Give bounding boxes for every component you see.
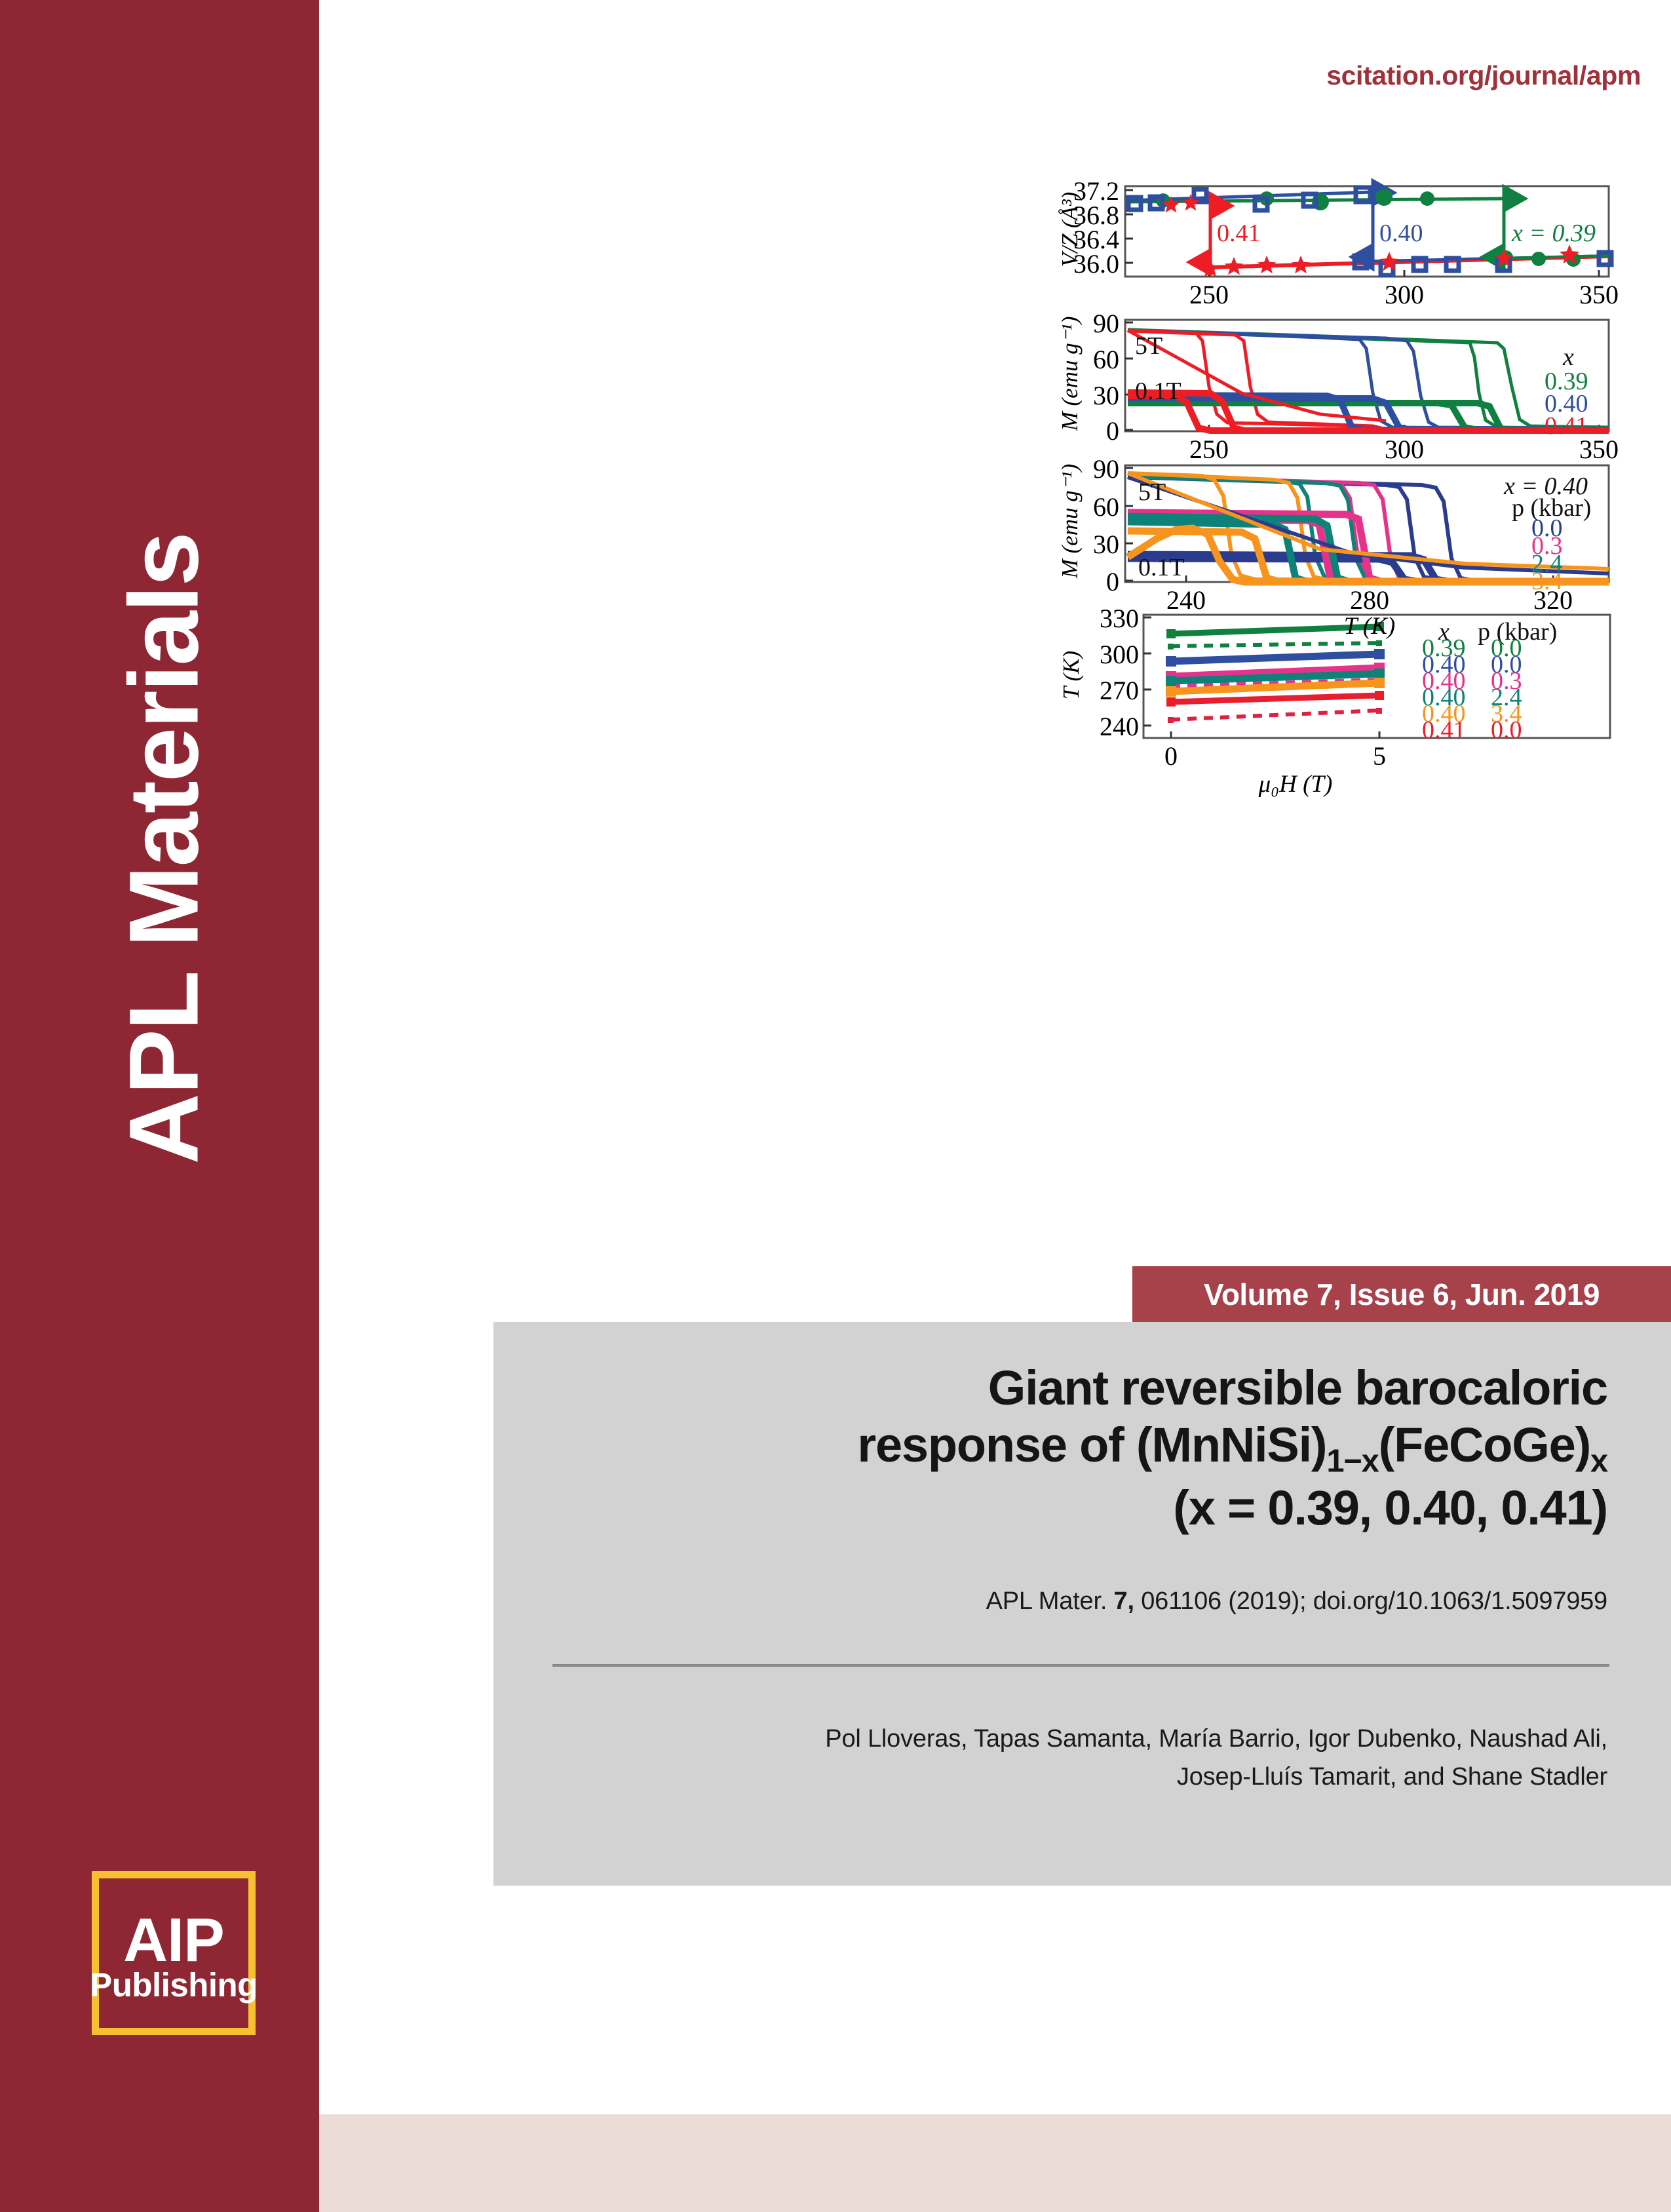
panel-a-annotation-039: x = 0.39 (1512, 219, 1596, 248)
aip-logo-acronym: AIP (123, 1914, 224, 1967)
panel-d-xtick-1: 5 (1343, 741, 1415, 771)
panel-c-ytick-2: 60 (1042, 492, 1119, 522)
citation-journal: APL Mater. (986, 1587, 1114, 1615)
panel-c-ytick-3: 90 (1042, 454, 1119, 484)
journal-name-label: APL Materials (107, 103, 221, 1165)
panel-c-xtick-1: 280 (1334, 585, 1406, 615)
article-title-line2-part1: response of (MnNiSi) (857, 1418, 1326, 1472)
panel-d-ytick-1: 270 (1055, 675, 1139, 706)
panel-b-field-label-01T: 0.1T (1135, 377, 1181, 406)
panel-c-field-label-5T: 5T (1138, 478, 1166, 507)
authors-line-2: Josep-Lluís Tamarit, and Shane Stadler (1177, 1763, 1607, 1791)
panel-d-xtick-0: 0 (1135, 741, 1207, 771)
article-authors: Pol Lloveras, Tapas Samanta, María Barri… (533, 1720, 1607, 1796)
panel-b-ytick-0: 0 (1042, 416, 1119, 446)
citation-doi[interactable]: 061106 (2019); doi.org/10.1063/1.5097959 (1134, 1587, 1607, 1615)
article-info-panel: Giant reversible barocaloric response of… (493, 1322, 1671, 1886)
panel-a-xtick-1: 300 (1368, 279, 1440, 310)
panel-d-ytick-2: 300 (1055, 639, 1139, 670)
citation-volume: 7, (1114, 1587, 1134, 1615)
authors-line-1: Pol Lloveras, Tapas Samanta, María Barri… (825, 1725, 1607, 1753)
journal-website-url[interactable]: scitation.org/journal/apm (1326, 60, 1641, 91)
panel-a-xtick-2: 350 (1563, 279, 1635, 310)
panel-d-legend-row5-p: 0.0 (1491, 716, 1522, 745)
footer-accent-bar (319, 2114, 1671, 2212)
panel-d-x-axis-label: μ₀H (T) (1210, 770, 1381, 798)
panel-b-ytick-1: 30 (1042, 380, 1119, 411)
panel-b-M-vs-T (1125, 320, 1609, 431)
panel-a-xtick-0: 250 (1173, 279, 1245, 310)
panel-d-ytick-0: 240 (1055, 711, 1139, 742)
article-title-line3: (x = 0.39, 0.40, 0.41) (1173, 1481, 1607, 1535)
panel-d-legend-row5-x: 0.41 (1422, 716, 1466, 745)
volume-issue-bar: Volume 7, Issue 6, Jun. 2019 (1132, 1266, 1671, 1323)
aip-publishing-logo: AIP Publishing (92, 1871, 256, 2035)
panel-c-x-axis-label: T (K) (1304, 612, 1435, 640)
panel-b-field-label-5T: 5T (1135, 332, 1162, 360)
article-citation: APL Mater. 7, 061106 (2019); doi.org/10.… (533, 1587, 1607, 1616)
panel-c-legend-34: 3.4 (1531, 567, 1563, 596)
article-title-line2-part2: (FeCoGe) (1379, 1418, 1590, 1472)
panel-a-annotation-040: 0.40 (1379, 219, 1423, 248)
article-divider (552, 1664, 1609, 1667)
article-title-sub-x: x (1590, 1443, 1607, 1479)
volume-issue-label: Volume 7, Issue 6, Jun. 2019 (1204, 1277, 1600, 1312)
article-title-sub-1minusx: 1−x (1326, 1443, 1378, 1479)
panel-c-xtick-0: 240 (1150, 585, 1222, 615)
aip-logo-publishing: Publishing (90, 1968, 258, 2002)
cover-figure: V/Z (Å³) 37.2 36.8 36.4 36.0 250 300 350… (1045, 177, 1628, 1101)
panel-b-xtick-0: 250 (1173, 434, 1245, 465)
article-title: Giant reversible barocaloric response of… (533, 1360, 1607, 1537)
panel-b-legend-041: 0.41 (1545, 412, 1588, 440)
panel-d-ytick-3: 330 (1055, 603, 1139, 634)
panel-a-annotation-041: 0.41 (1217, 219, 1261, 248)
panel-c-field-label-01T: 0.1T (1138, 553, 1185, 582)
panel-a-ytick-0: 36.0 (1042, 248, 1119, 279)
panel-c-ytick-0: 0 (1042, 566, 1119, 597)
article-title-line1: Giant reversible barocaloric (988, 1361, 1607, 1415)
panel-c-ytick-1: 30 (1042, 529, 1119, 560)
panel-b-ytick-2: 60 (1042, 344, 1119, 375)
panel-b-xtick-1: 300 (1368, 434, 1440, 465)
panel-b-ytick-3: 90 (1042, 308, 1119, 339)
